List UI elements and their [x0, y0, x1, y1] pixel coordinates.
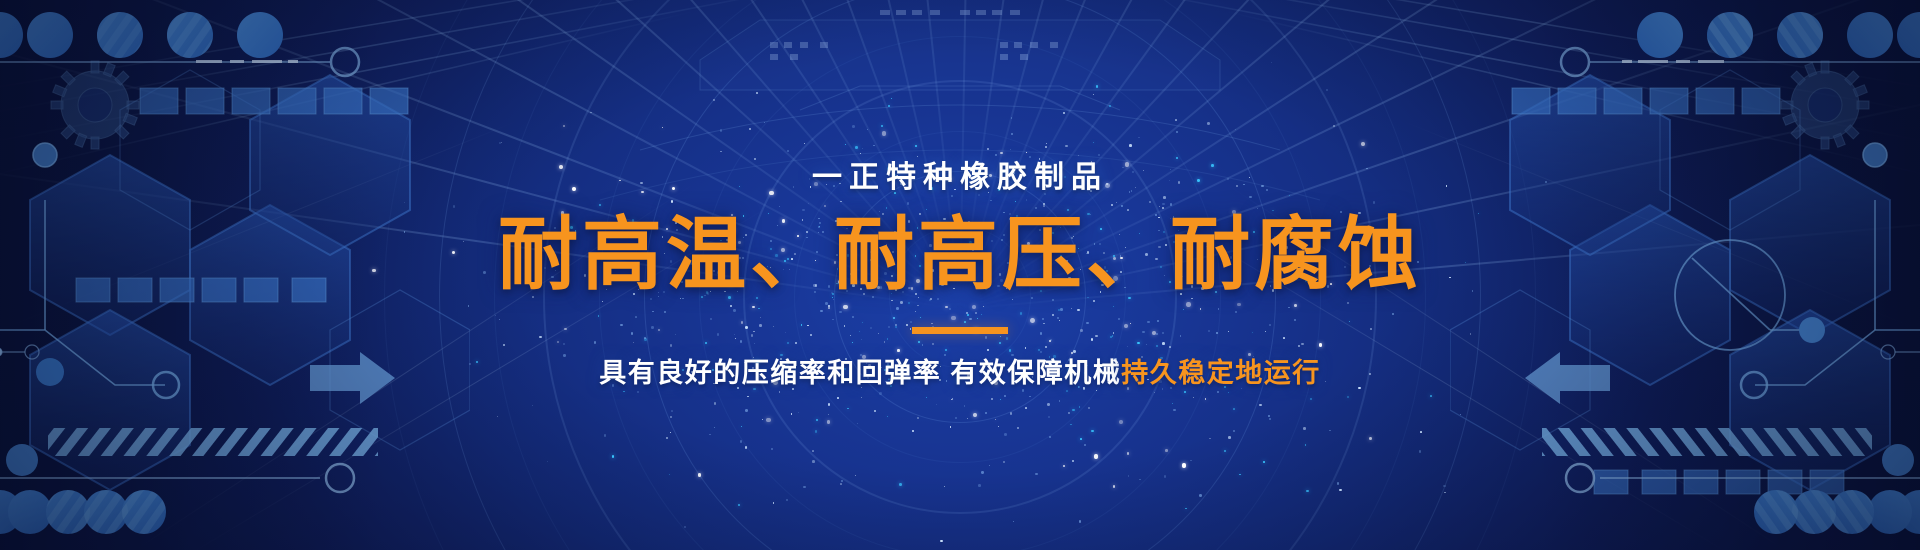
banner-tagline: 具有良好的压缩率和回弹率 有效保障机械持久稳定地运行: [599, 360, 1321, 387]
tagline-orange-text: 持久稳定地运行: [1121, 358, 1321, 388]
tagline-white-text: 具有良好的压缩率和回弹率 有效保障机械: [599, 358, 1121, 388]
banner-subtitle: 一正特种橡胶制品: [812, 163, 1108, 193]
orange-divider: [912, 327, 1008, 334]
hero-banner: 一正特种橡胶制品 耐高温、耐高压、耐腐蚀 具有良好的压缩率和回弹率 有效保障机械…: [0, 0, 1920, 550]
banner-content: 一正特种橡胶制品 耐高温、耐高压、耐腐蚀 具有良好的压缩率和回弹率 有效保障机械…: [0, 0, 1920, 550]
banner-headline: 耐高温、耐高压、耐腐蚀: [498, 215, 1422, 295]
